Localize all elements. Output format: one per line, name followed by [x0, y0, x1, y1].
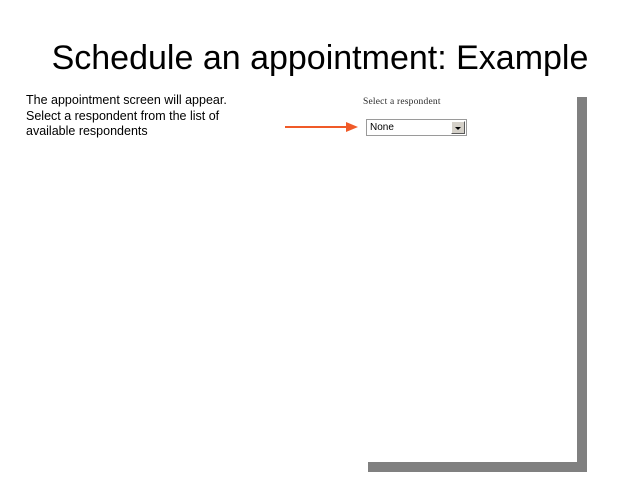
respondent-dropdown[interactable]: None [366, 119, 467, 136]
annotation-arrow [285, 120, 361, 134]
annotation-arrow-line [285, 126, 348, 128]
respondent-field-label: Select a respondent [363, 97, 441, 107]
right-arrow-icon [346, 122, 358, 132]
embedded-screenshot: Select a respondent None [360, 94, 577, 462]
page-title: Schedule an appointment: Example [0, 38, 640, 78]
respondent-dropdown-value: None [370, 122, 394, 134]
screenshot-shadow-bottom [368, 462, 587, 472]
slide-body-text: The appointment screen will appear. Sele… [26, 93, 256, 140]
respondent-dropdown-button[interactable] [451, 121, 465, 134]
chevron-down-icon [455, 127, 461, 130]
screenshot-shadow-right [577, 97, 587, 463]
